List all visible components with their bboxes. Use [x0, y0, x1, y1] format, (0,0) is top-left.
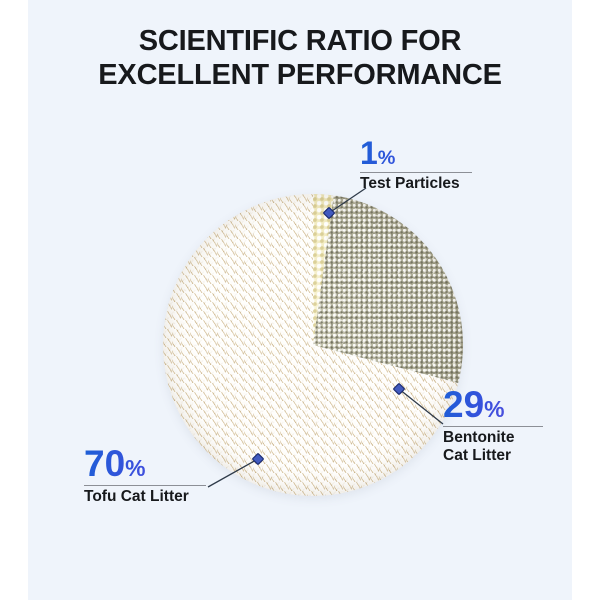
marker-test-particles — [323, 207, 334, 218]
callout-tofu: 70% Tofu Cat Litter — [84, 446, 206, 506]
callout-tofu-caption: Tofu Cat Litter — [84, 488, 206, 506]
callout-bentonite-value: 29% — [443, 387, 543, 423]
percent-sign-icon: % — [484, 396, 504, 422]
percent-sign-icon: % — [125, 455, 145, 481]
marker-tofu — [252, 453, 263, 464]
callout-bentonite-caption-line-2: Cat Litter — [443, 447, 543, 465]
callout-bentonite: 29% Bentonite Cat Litter — [443, 387, 543, 465]
callout-test-particles-number: 1 — [360, 135, 378, 171]
callout-tofu-divider — [84, 485, 206, 486]
callout-test-particles-value: 1% — [360, 138, 472, 169]
callout-bentonite-number: 29 — [443, 384, 484, 425]
callout-tofu-number: 70 — [84, 443, 125, 484]
callout-test-particles: 1% Test Particles — [360, 138, 472, 193]
infographic-canvas: SCIENTIFIC RATIO FOR EXCELLENT PERFORMAN… — [0, 0, 600, 600]
callout-tofu-value: 70% — [84, 446, 206, 482]
leader-line-bentonite — [399, 389, 443, 424]
leader-line-tofu — [208, 459, 258, 487]
leader-lines — [0, 0, 600, 600]
percent-sign-icon: % — [378, 147, 396, 169]
callout-test-particles-divider — [360, 172, 472, 173]
callout-test-particles-caption: Test Particles — [360, 175, 472, 193]
callout-bentonite-caption-line-1: Bentonite — [443, 429, 543, 447]
callout-bentonite-divider — [443, 426, 543, 427]
